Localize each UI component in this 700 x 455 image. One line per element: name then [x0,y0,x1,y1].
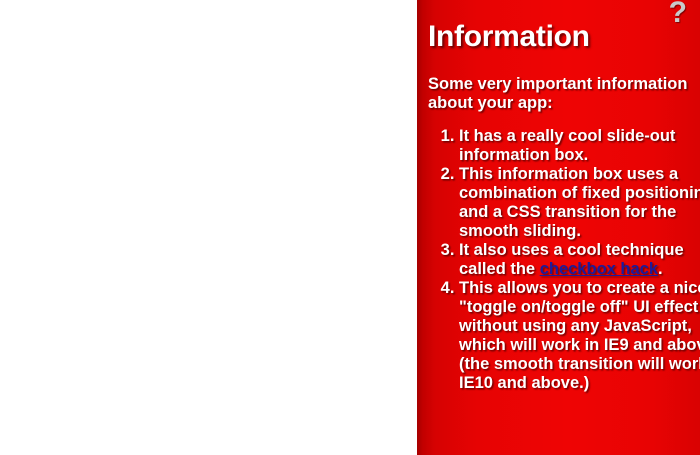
list-item: It also uses a cool technique called the… [459,241,700,279]
list-item: It has a really cool slide-out informati… [459,127,700,165]
list-item-text: This information box uses a combination … [459,165,700,240]
panel-intro-text: Some very important information about yo… [428,75,690,113]
page-content-area [0,0,417,455]
information-list: It has a really cool slide-out informati… [428,127,700,393]
list-item: This allows you to create a nice "toggle… [459,279,700,393]
checkbox-hack-link[interactable]: checkbox hack [540,260,658,278]
list-item-text-tail: . [658,260,663,278]
app-root: ? Information Some very important inform… [0,0,700,455]
list-item-text: It has a really cool slide-out informati… [459,127,675,164]
information-slideout-panel: ? Information Some very important inform… [417,0,700,455]
question-mark-help-icon[interactable]: ? [669,0,687,28]
list-item: This information box uses a combination … [459,165,700,241]
panel-title: Information [428,20,590,55]
list-item-text: This allows you to create a nice "toggle… [459,279,700,392]
